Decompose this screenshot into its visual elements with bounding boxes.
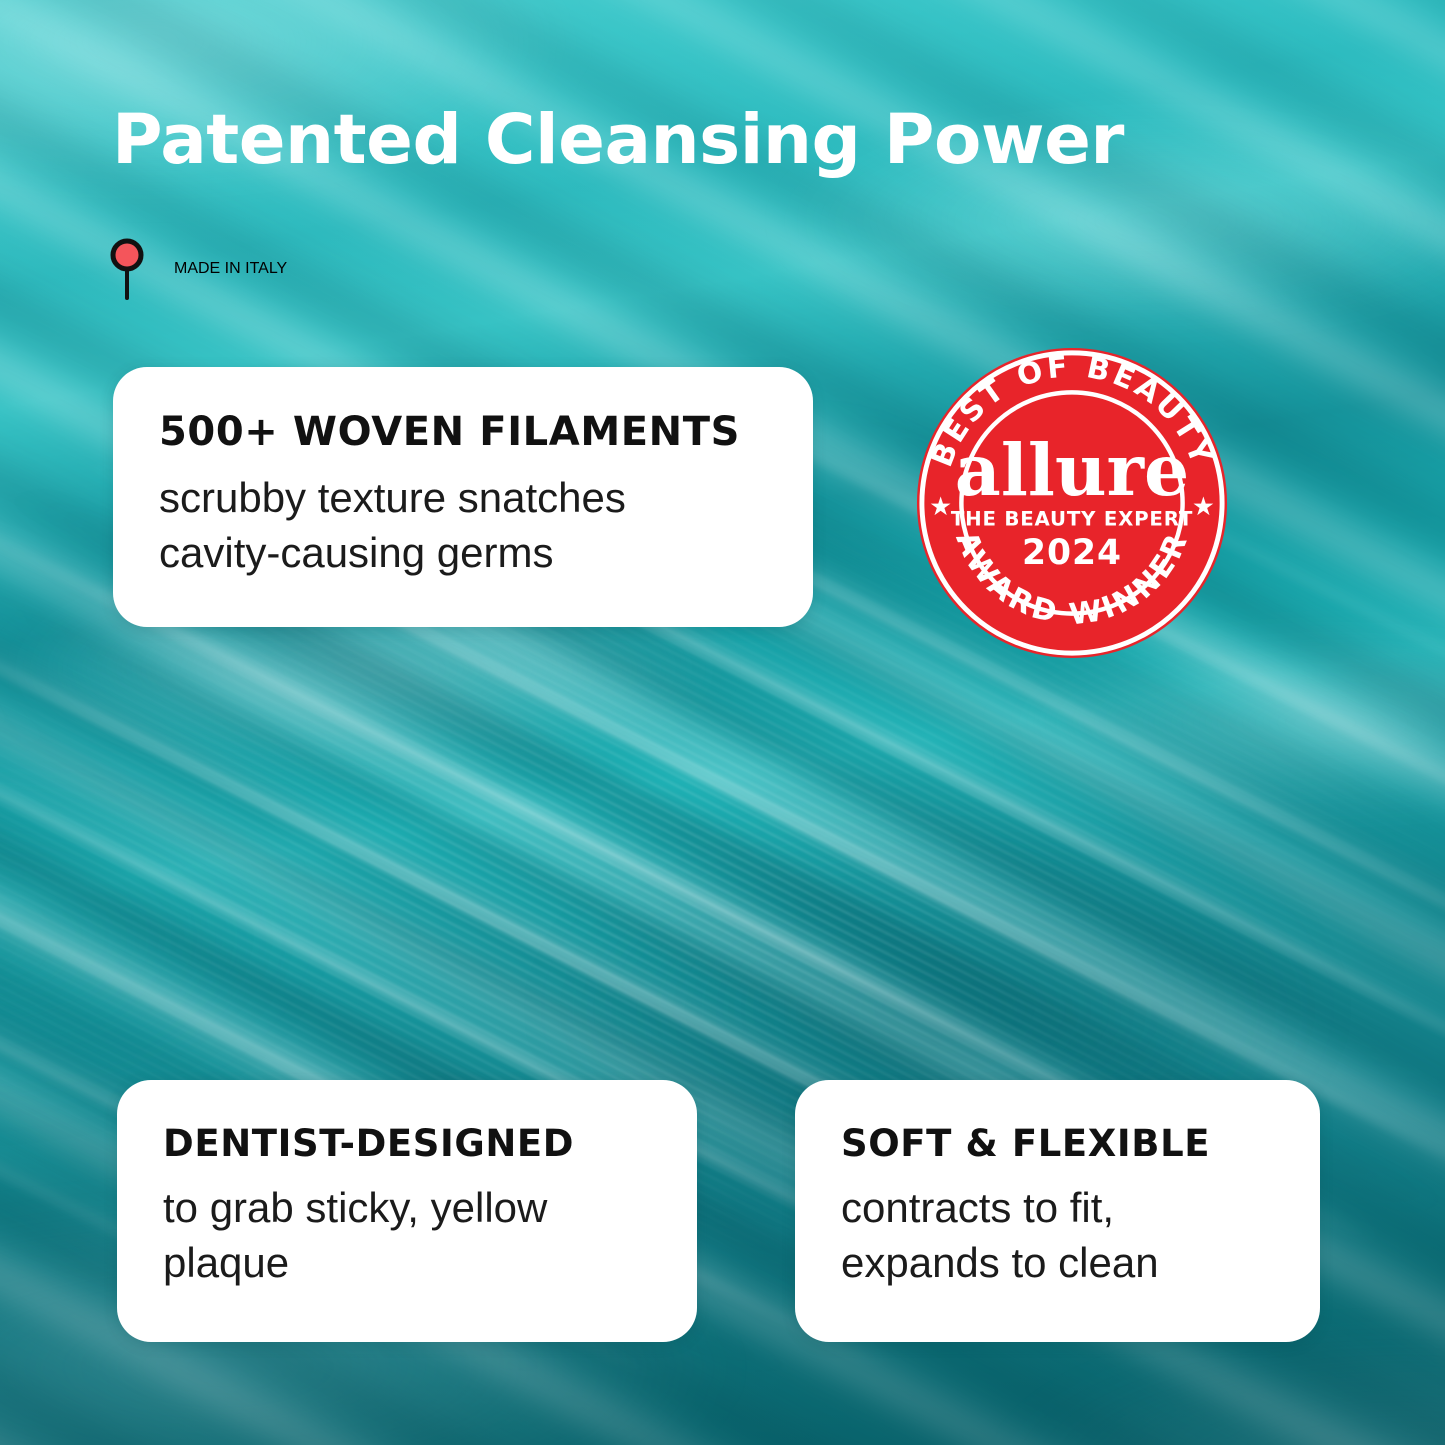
map-pin-icon (106, 238, 148, 300)
star-icon: ★ (1192, 492, 1215, 522)
badge-year: 2024 (1022, 533, 1122, 573)
feature-card-dentist-designed: DENTIST-DESIGNED to grab sticky, yellow … (117, 1080, 697, 1342)
feature-card-body-line: expands to clean (841, 1239, 1159, 1286)
feature-card-soft-flexible: SOFT & FLEXIBLE contracts to fit, expand… (795, 1080, 1320, 1342)
feature-card-body: contracts to fit, expands to clean (841, 1181, 1276, 1290)
feature-card-title: 500+ WOVEN FILAMENTS (159, 409, 769, 455)
feature-card-woven-filaments: 500+ WOVEN FILAMENTS scrubby texture sna… (113, 367, 813, 627)
feature-card-title: DENTIST-DESIGNED (163, 1122, 653, 1165)
feature-card-body-line: to grab sticky, yellow (163, 1184, 547, 1231)
star-icon: ★ (929, 492, 952, 522)
feature-card-body-line: cavity-causing germs (159, 529, 553, 576)
feature-card-body-line: scrubby texture snatches (159, 474, 626, 521)
badge-brand-wordmark: allure (955, 428, 1189, 512)
origin-badge: MADE IN ITALY (106, 238, 287, 300)
feature-card-body: scrubby texture snatches cavity-causing … (159, 471, 769, 580)
feature-card-body: to grab sticky, yellow plaque (163, 1181, 653, 1290)
badge-tagline: THE BEAUTY EXPERT (951, 508, 1193, 531)
feature-card-title: SOFT & FLEXIBLE (841, 1122, 1276, 1165)
feature-card-body-line: plaque (163, 1239, 289, 1286)
origin-label: MADE IN ITALY (174, 260, 287, 278)
feature-card-body-line: contracts to fit, (841, 1184, 1114, 1231)
product-feature-image: Patented Cleansing Power MADE IN ITALY 5… (0, 0, 1445, 1445)
page-title: Patented Cleansing Power (112, 104, 1232, 176)
allure-award-badge: BEST OF BEAUTY AWARD WINNER ★ ★ allure T… (914, 345, 1230, 661)
